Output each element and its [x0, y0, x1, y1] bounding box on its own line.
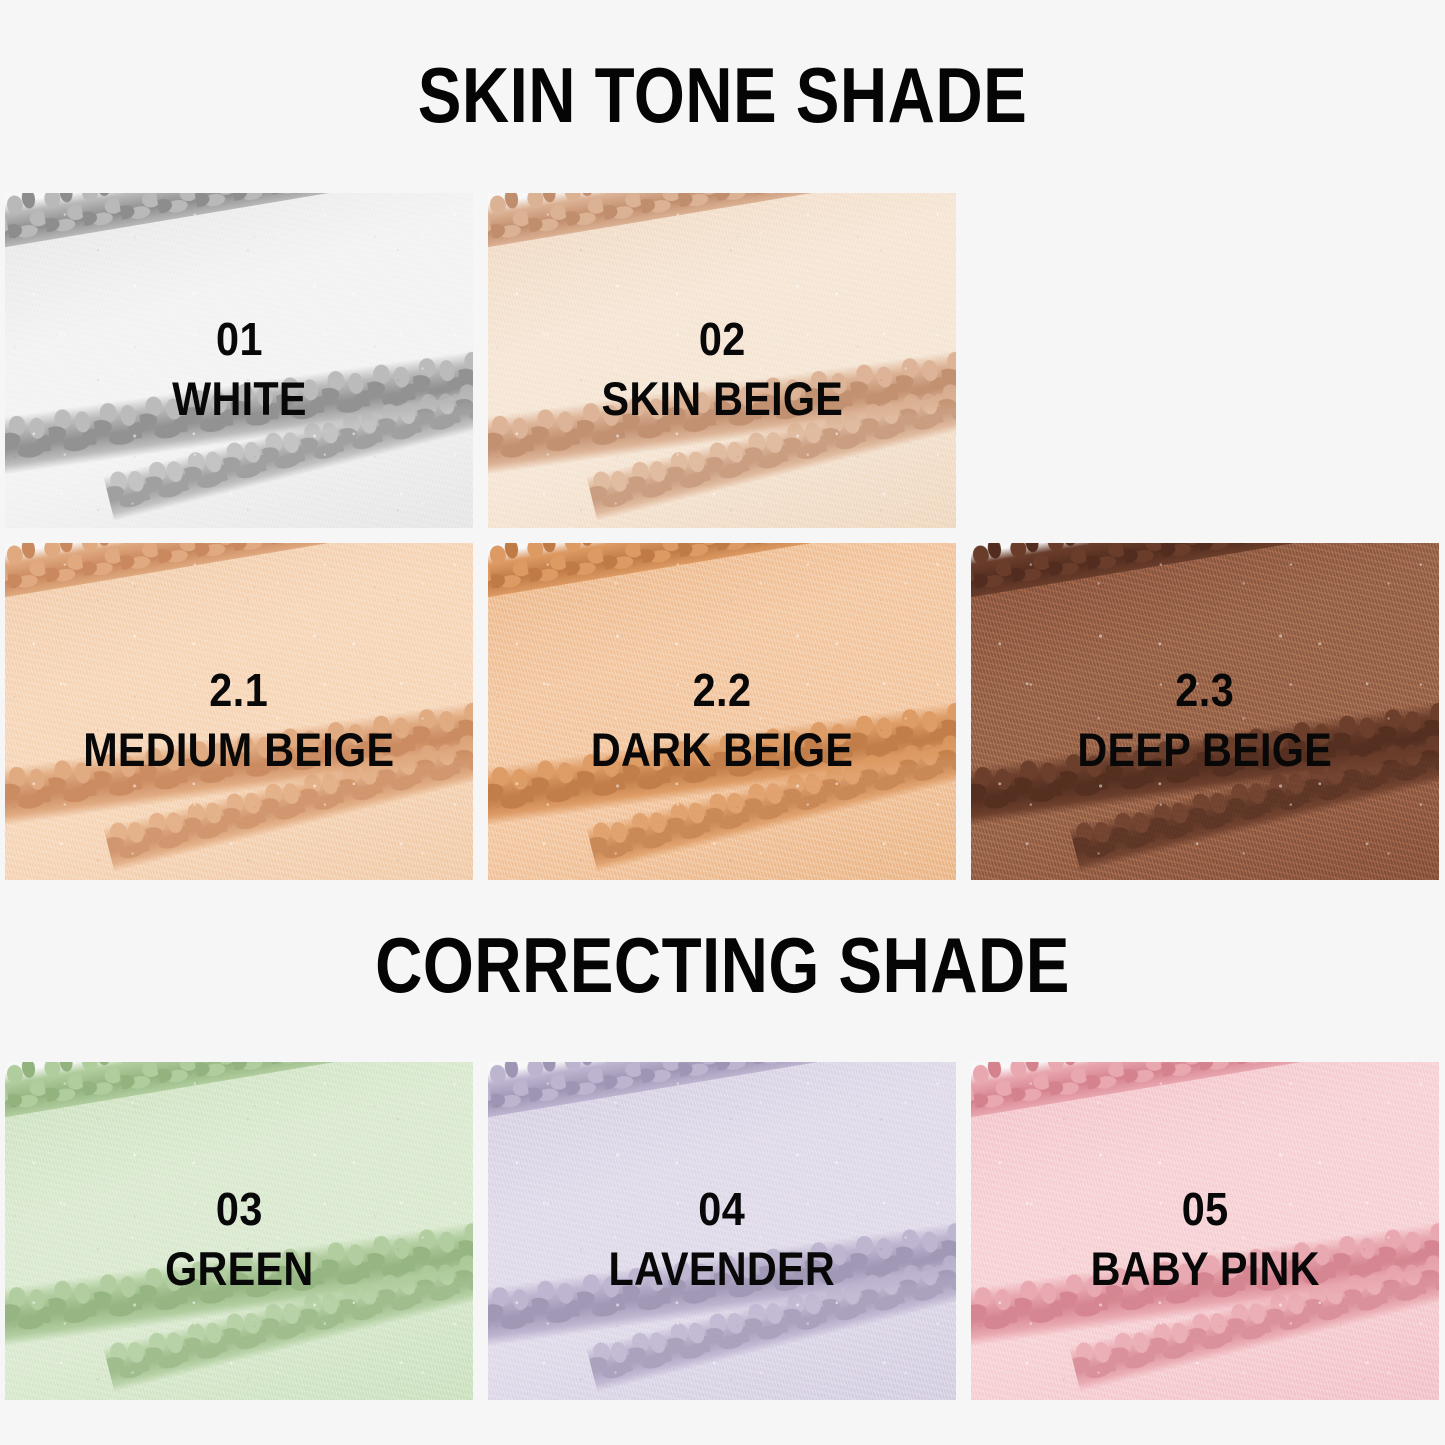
swatch-caption: 2.2 DARK BEIGE: [573, 667, 871, 773]
swatch-caption: 02 SKIN BEIGE: [585, 316, 860, 422]
shade-name: DEEP BEIGE: [1078, 726, 1333, 773]
swatch-tile-21-medium-beige[interactable]: 2.1 MEDIUM BEIGE: [5, 543, 473, 880]
swatch-tile-empty: [971, 193, 1439, 528]
swatch-tile-03-green[interactable]: 03 GREEN: [5, 1062, 473, 1400]
shade-chart-page: SKIN TONE SHADE 01 WHITE 02 S: [0, 0, 1445, 1445]
shade-number: 01: [170, 316, 308, 362]
swatch-tile-22-dark-beige[interactable]: 2.2 DARK BEIGE: [488, 543, 956, 880]
shade-name: DARK BEIGE: [591, 726, 853, 773]
swatch-caption: 2.3 DEEP BEIGE: [1060, 667, 1349, 773]
swatch-caption: 04 LAVENDER: [593, 1186, 850, 1292]
shade-number: 2.3: [1075, 667, 1336, 713]
shade-name: WHITE: [172, 375, 307, 422]
swatch-caption: 05 BABY PINK: [1075, 1186, 1335, 1292]
shade-name: BABY PINK: [1090, 1245, 1319, 1292]
swatch-tile-01-white[interactable]: 01 WHITE: [5, 193, 473, 528]
swatch-caption: 03 GREEN: [155, 1186, 324, 1292]
swatch-tile-05-baby-pink[interactable]: 05 BABY PINK: [971, 1062, 1439, 1400]
section-title-correcting: CORRECTING SHADE: [116, 922, 1330, 1008]
shade-name: LAVENDER: [609, 1245, 836, 1292]
shade-number: 02: [598, 316, 845, 362]
shade-number: 2.1: [80, 667, 398, 713]
shade-name: SKIN BEIGE: [601, 375, 843, 422]
swatch-tile-02-skin-beige[interactable]: 02 SKIN BEIGE: [488, 193, 956, 528]
shade-name: GREEN: [165, 1245, 313, 1292]
swatch-tile-04-lavender[interactable]: 04 LAVENDER: [488, 1062, 956, 1400]
shade-number: 04: [606, 1186, 838, 1232]
shade-number: 03: [163, 1186, 315, 1232]
swatch-row-skin-tone-1: 01 WHITE 02 SKIN BEIGE: [5, 193, 1440, 528]
swatch-caption: 2.1 MEDIUM BEIGE: [62, 667, 416, 773]
swatch-tile-23-deep-beige[interactable]: 2.3 DEEP BEIGE: [971, 543, 1439, 880]
shade-name: MEDIUM BEIGE: [83, 726, 394, 773]
shade-number: 2.2: [588, 667, 856, 713]
swatch-row-correcting: 03 GREEN 04 LAVENDER: [5, 1062, 1440, 1400]
section-title-skin-tone: SKIN TONE SHADE: [116, 52, 1330, 138]
swatch-caption: 01 WHITE: [163, 316, 316, 422]
swatch-row-skin-tone-2: 2.1 MEDIUM BEIGE 2.2 DARK BEIGE: [5, 543, 1440, 880]
shade-number: 05: [1088, 1186, 1322, 1232]
